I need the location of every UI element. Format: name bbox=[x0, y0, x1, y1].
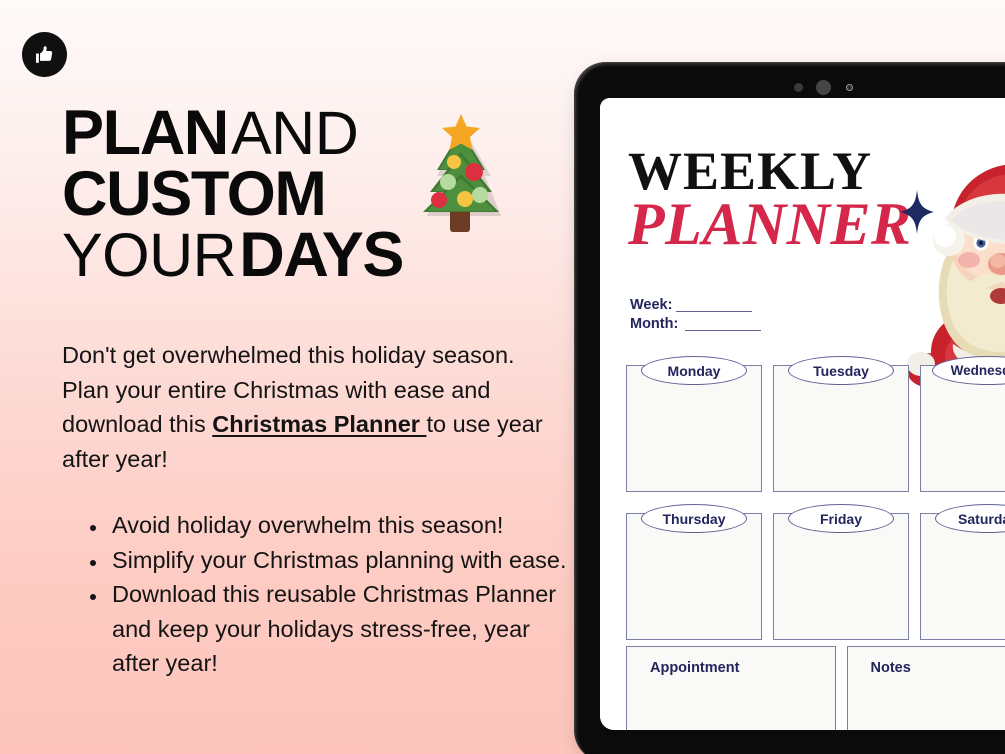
list-item: Simplify your Christmas planning with ea… bbox=[108, 543, 578, 578]
week-label: Week: bbox=[630, 296, 676, 315]
week-field-row[interactable]: Week: bbox=[630, 296, 761, 315]
tablet-screen[interactable]: WEEKLY PLANNER Week: bbox=[600, 98, 1005, 730]
appointment-box[interactable]: Appointment bbox=[626, 646, 836, 730]
christmas-planner-emphasis: Christmas Planner bbox=[212, 411, 426, 437]
planner-fields: Week: Month: bbox=[630, 296, 761, 334]
headline-plan: PLAN bbox=[62, 98, 228, 168]
thumbs-up-badge[interactable] bbox=[22, 32, 67, 77]
tablet-device-mockup: WEEKLY PLANNER Week: bbox=[574, 62, 1005, 754]
day-label-friday: Friday bbox=[788, 504, 894, 533]
headline-days: DAYS bbox=[239, 220, 403, 290]
indicator-light-icon bbox=[846, 84, 853, 91]
headline-custom: CUSTOM bbox=[62, 159, 325, 229]
left-content-column: PLAN AND CUSTOM YOUR DAYS bbox=[0, 0, 575, 754]
tablet-frame: WEEKLY PLANNER Week: bbox=[574, 62, 1005, 754]
day-cell-tuesday[interactable]: Tuesday bbox=[773, 356, 909, 492]
day-label-thursday: Thursday bbox=[641, 504, 747, 533]
planner-title-planner-text: PLANNER bbox=[628, 191, 912, 257]
day-cell-saturday[interactable]: Saturday bbox=[920, 504, 1005, 640]
day-cell-wednesday[interactable]: Wednesday bbox=[920, 356, 1005, 492]
notes-box[interactable]: Notes bbox=[847, 646, 1005, 730]
month-field-row[interactable]: Month: bbox=[630, 315, 761, 334]
day-cell-thursday[interactable]: Thursday bbox=[626, 504, 762, 640]
sensor-dot-icon bbox=[794, 83, 803, 92]
camera-lens-icon bbox=[816, 80, 831, 95]
planner-bottom-row: Appointment Notes bbox=[626, 646, 1005, 730]
weekday-grid: Monday Tuesday Wednesday Thursday bbox=[626, 356, 1005, 640]
benefits-list: Avoid holiday overwhelm this season! Sim… bbox=[88, 508, 578, 681]
list-item: Avoid holiday overwhelm this season! bbox=[108, 508, 578, 543]
weekly-planner-page: WEEKLY PLANNER Week: bbox=[600, 98, 1005, 730]
promo-page: PLAN AND CUSTOM YOUR DAYS bbox=[0, 0, 1005, 754]
month-label: Month: bbox=[630, 315, 685, 334]
list-item: Download this reusable Christmas Planner… bbox=[108, 577, 578, 681]
day-label-monday: Monday bbox=[641, 356, 747, 385]
thumbs-up-icon bbox=[34, 44, 56, 66]
headline-and: AND bbox=[231, 99, 358, 167]
headline-your: YOUR bbox=[62, 221, 236, 289]
day-label-tuesday: Tuesday bbox=[788, 356, 894, 385]
day-cell-monday[interactable]: Monday bbox=[626, 356, 762, 492]
camera-sensor-cluster bbox=[794, 79, 924, 95]
christmas-tree-icon bbox=[415, 112, 507, 238]
intro-paragraph: Don't get overwhelmed this holiday seaso… bbox=[62, 338, 562, 476]
month-input-line[interactable] bbox=[685, 330, 761, 331]
week-input-line[interactable] bbox=[676, 311, 752, 312]
day-cell-friday[interactable]: Friday bbox=[773, 504, 909, 640]
